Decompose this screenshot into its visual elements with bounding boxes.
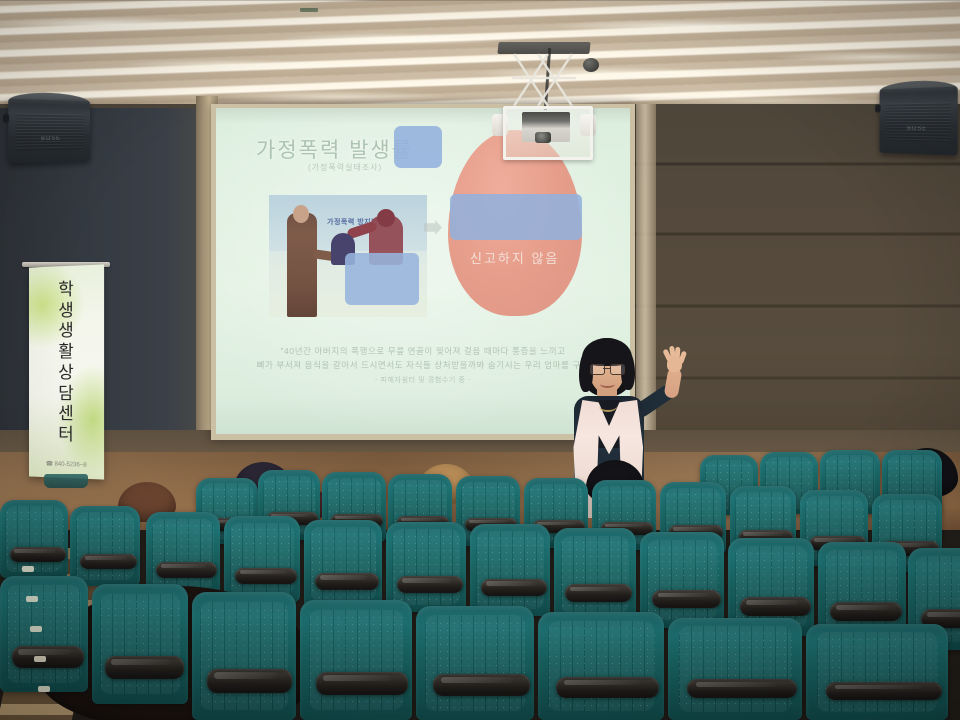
seat-ribbing [647, 540, 718, 621]
aisle-step-light [30, 626, 42, 632]
speaker-right-grille [885, 102, 951, 142]
oval-label-text: 신고하지 않음 [470, 248, 559, 267]
seat-ribbing [76, 512, 135, 579]
seat-armrest[interactable] [235, 568, 297, 584]
photo-person-suit [287, 213, 317, 317]
presenter-glasses-icon [590, 364, 624, 373]
slide-subtitle: (가정폭력실태조사) [308, 162, 382, 173]
banner-title-vertical: 학생생활상담센터 [52, 279, 80, 446]
seat-ribbing [392, 529, 459, 605]
seat-ribbing [200, 602, 287, 710]
seat-ribbing [152, 519, 214, 590]
speaker-left-logo: BOSE [41, 136, 61, 142]
banner-phone-text: ☎ 840-5236~8 [46, 460, 87, 468]
seat-armrest[interactable] [740, 597, 811, 616]
seat-armrest[interactable] [12, 646, 84, 668]
redaction-box-title [394, 126, 442, 168]
auditorium-photo: 가정폭력 발생률 (가정폭력실태조사) 가정폭력 방지법 신고하지 않음 "40… [0, 0, 960, 720]
banner-student-counseling-center: 학생생활상담센터 ☎ 840-5236~8 [29, 264, 104, 479]
seat-armrest[interactable] [830, 602, 902, 621]
seat-ribbing [7, 585, 81, 682]
ceiling-sensor-icon [300, 8, 318, 12]
seat[interactable] [192, 592, 296, 720]
seat-armrest[interactable] [80, 554, 137, 569]
aisle-step-light [22, 566, 34, 572]
projector-lens-icon [535, 132, 551, 143]
seat-armrest[interactable] [433, 674, 530, 696]
seat-ribbing [476, 531, 543, 608]
speaker-left-grille [15, 113, 84, 150]
speaker-right: BOSE [880, 87, 958, 156]
slide-embedded-photo: 가정폭력 방지법 [269, 195, 427, 317]
aisle-step-light [26, 596, 38, 602]
speaker-left: BOSE [8, 99, 90, 164]
aisle-step-light [38, 686, 50, 692]
presenter-palm [667, 356, 682, 372]
seat-armrest[interactable] [481, 579, 547, 596]
seat[interactable] [470, 524, 550, 616]
seat[interactable] [0, 500, 68, 578]
redaction-box-oval [450, 194, 582, 240]
seat-ribbing [230, 523, 294, 595]
presenter-hair-front [582, 338, 632, 366]
seat-armrest[interactable] [397, 576, 463, 593]
presenter-glasses-lens-left [590, 364, 605, 375]
seat-ribbing [100, 594, 181, 695]
photo-person-head [293, 205, 309, 223]
seat[interactable] [304, 520, 382, 608]
presenter-necklace [599, 400, 617, 412]
presenter-smile [600, 380, 615, 388]
seat-armrest[interactable] [826, 682, 942, 700]
seat-ribbing [679, 626, 792, 712]
seat-armrest[interactable] [687, 679, 797, 698]
seat[interactable] [554, 528, 636, 622]
redaction-box-photo [345, 253, 419, 305]
seat-ribbing [561, 536, 630, 615]
photo-silhouette-right-head [377, 209, 395, 227]
presenter-glasses-lens-right [610, 364, 625, 375]
seat-ribbing [825, 550, 899, 634]
projector-lift-scissor [508, 52, 580, 110]
presenter-hand [664, 348, 686, 372]
seat-armrest[interactable] [652, 590, 721, 608]
slide-title: 가정폭력 발생률 [256, 134, 413, 164]
seat-armrest[interactable] [556, 677, 659, 698]
presenter-glasses-bridge [603, 368, 610, 369]
seat[interactable] [538, 612, 664, 720]
seat[interactable] [668, 618, 802, 720]
aisle-step-light [34, 656, 46, 662]
speaker-left-mount [3, 114, 9, 122]
seat[interactable] [224, 516, 300, 602]
seat[interactable] [70, 506, 140, 586]
seat[interactable] [386, 522, 466, 612]
seat-ribbing [817, 632, 936, 713]
seat-ribbing [309, 610, 403, 711]
seat-armrest[interactable] [156, 562, 217, 578]
seat[interactable] [806, 624, 948, 720]
seat[interactable] [416, 606, 534, 720]
seat-armrest[interactable] [315, 573, 379, 590]
seat-ribbing [425, 615, 524, 711]
seat-armrest[interactable] [207, 669, 292, 693]
seat-armrest[interactable] [105, 656, 184, 679]
seat-armrest[interactable] [10, 547, 66, 562]
seat-armrest[interactable] [565, 584, 632, 602]
seat-armrest[interactable] [316, 672, 408, 695]
speaker-right-logo: BOSE [907, 126, 927, 132]
ceiling-dome-camera-icon [583, 58, 599, 72]
seat[interactable] [92, 584, 188, 704]
seat[interactable] [300, 600, 412, 720]
speaker-right-mount [875, 105, 880, 113]
banner-stand [44, 474, 88, 488]
seat[interactable] [0, 576, 88, 692]
